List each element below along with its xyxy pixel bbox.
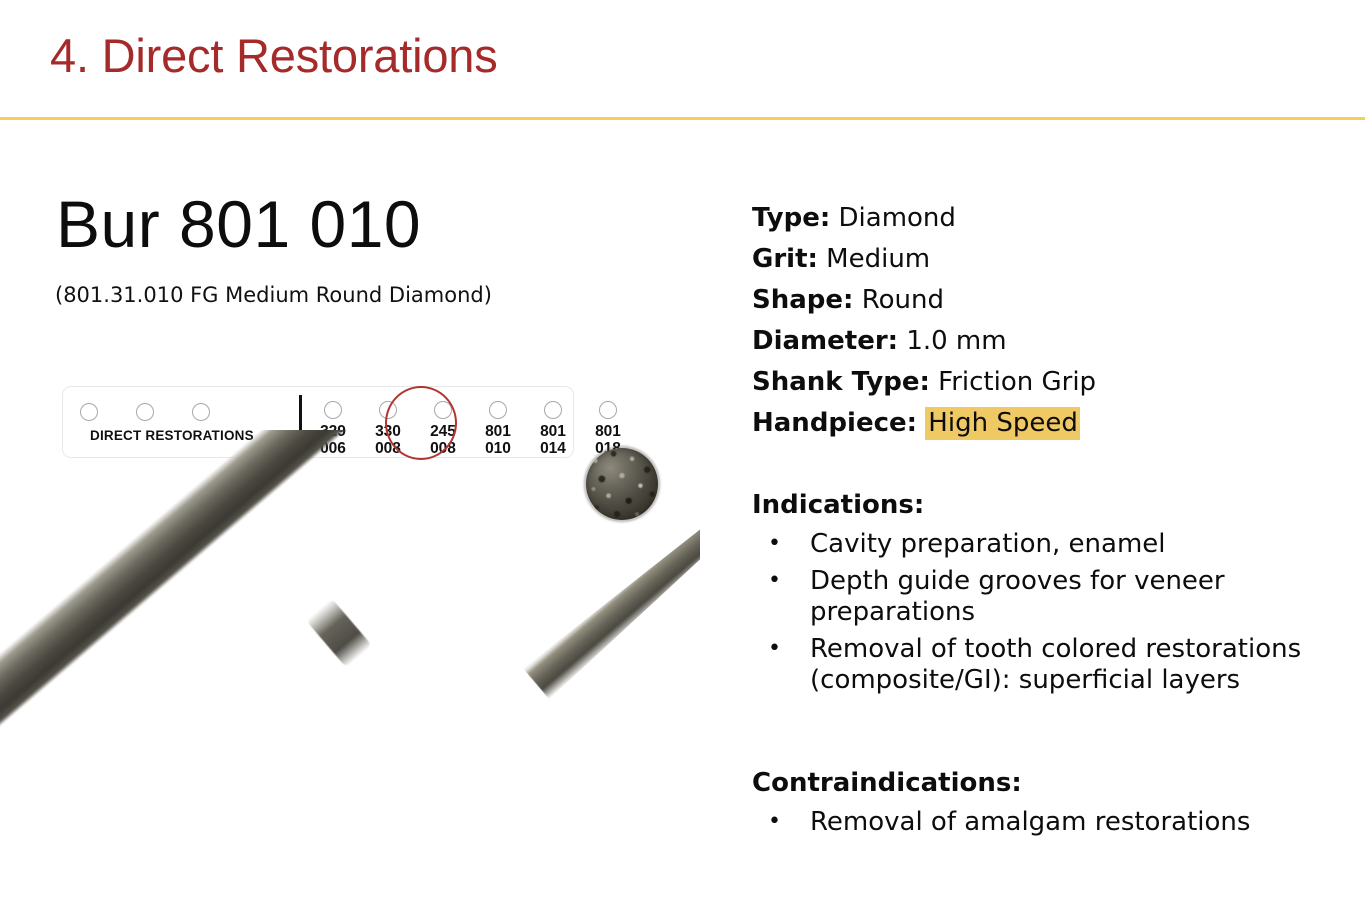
bur-shank-collar (306, 598, 372, 667)
block-empty-hole (80, 403, 98, 421)
spec-key: Handpiece: (752, 408, 917, 438)
spec-row-grit: Grit: Medium (752, 239, 1352, 280)
page-title: 4. Direct Restorations (50, 28, 498, 83)
spec-key: Shank Type: (752, 367, 930, 397)
spec-value-highlighted: High Speed (925, 407, 1080, 440)
list-item: Depth guide grooves for veneer preparati… (752, 566, 1352, 628)
spec-value: Medium (826, 244, 930, 274)
block-empty-hole (192, 403, 210, 421)
contraindications-heading: Contraindications: (752, 766, 1352, 800)
spec-row-shape: Shape: Round (752, 280, 1352, 321)
spec-row-handpiece: Handpiece: High Speed (752, 403, 1352, 444)
bur-neck-taper (523, 500, 700, 699)
indications-section: Indications: Cavity preparation, enamel … (752, 488, 1352, 696)
bur-slot-hole (379, 401, 397, 419)
bur-subtitle: (801.31.010 FG Medium Round Diamond) (55, 283, 492, 307)
indications-list: Cavity preparation, enamel Depth guide g… (752, 529, 1352, 696)
spec-value: Friction Grip (938, 367, 1096, 397)
spec-key: Grit: (752, 244, 818, 274)
bur-slot-hole (599, 401, 617, 419)
bur-slot-hole (544, 401, 562, 419)
list-item: Removal of amalgam restorations (752, 807, 1352, 838)
bur-slot-hole (324, 401, 342, 419)
bur-name-heading: Bur 801 010 (56, 186, 421, 262)
bur-head-shadow (584, 446, 660, 522)
spec-row-type: Type: Diamond (752, 198, 1352, 239)
spec-row-shank-type: Shank Type: Friction Grip (752, 362, 1352, 403)
bur-shank (0, 430, 516, 779)
spec-list: Type: Diamond Grit: Medium Shape: Round … (752, 198, 1352, 444)
spec-value: 1.0 mm (906, 326, 1006, 356)
spec-value: Round (862, 285, 944, 315)
bur-photograph (0, 430, 700, 901)
title-divider-rule (0, 117, 1365, 120)
spec-key: Type: (752, 203, 830, 233)
contraindications-list: Removal of amalgam restorations (752, 807, 1352, 838)
contraindications-section: Contraindications: Removal of amalgam re… (752, 766, 1352, 838)
indications-heading: Indications: (752, 488, 1352, 522)
bur-slot-hole (434, 401, 452, 419)
list-item: Cavity preparation, enamel (752, 529, 1352, 560)
list-item: Removal of tooth colored restorations (c… (752, 634, 1352, 696)
spec-value: Diamond (839, 203, 956, 233)
spec-key: Shape: (752, 285, 853, 315)
block-empty-hole (136, 403, 154, 421)
spec-key: Diameter: (752, 326, 898, 356)
bur-slot-hole (489, 401, 507, 419)
spec-row-diameter: Diameter: 1.0 mm (752, 321, 1352, 362)
